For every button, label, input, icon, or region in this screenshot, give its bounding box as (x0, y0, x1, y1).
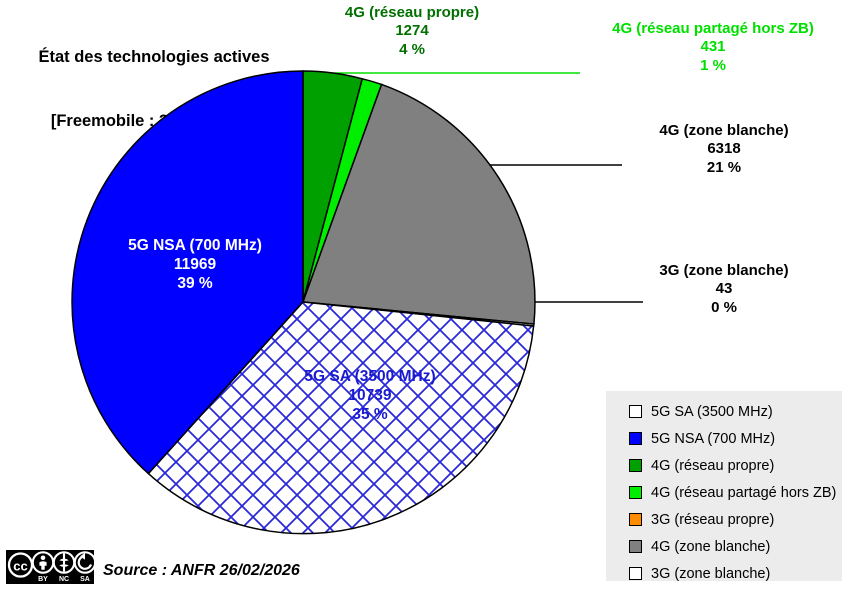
legend-item-label: 4G (zone blanche) (651, 539, 770, 555)
legend-swatch (629, 567, 642, 580)
callout-label: 3G (zone blanche) (600, 262, 848, 280)
callout-value: 1274 (322, 22, 502, 40)
svg-text:SA: SA (80, 576, 90, 583)
callout-label: 4G (zone blanche) (600, 122, 848, 140)
legend-item[interactable]: 3G (réseau propre) (607, 506, 841, 533)
cc-badge-icon: cc BY NC SA (6, 550, 94, 584)
slice-label-value: 10739 (270, 387, 470, 406)
legend-item-label: 4G (réseau propre) (651, 458, 774, 474)
legend-swatch (629, 459, 642, 472)
legend-item[interactable]: 4G (réseau partagé hors ZB) (607, 479, 841, 506)
callout-4g-reseau-propre: 4G (réseau propre) 1274 4 % (322, 4, 502, 59)
callout-value: 431 (578, 38, 848, 56)
source-attribution: Source : ANFR 26/02/2026 (103, 562, 300, 580)
legend-swatch (629, 540, 642, 553)
legend-item[interactable]: 4G (zone blanche) (607, 533, 841, 560)
chart-legend: 5G SA (3500 MHz)5G NSA (700 MHz)4G (rése… (606, 391, 842, 581)
callout-value: 43 (600, 280, 848, 298)
slice-label-percent: 39 % (95, 275, 295, 294)
callout-percent: 0 % (600, 299, 848, 317)
callout-4g-zone-blanche: 4G (zone blanche) 6318 21 % (600, 122, 848, 177)
legend-item[interactable]: 4G (réseau propre) (607, 452, 841, 479)
legend-item-label: 5G SA (3500 MHz) (651, 404, 773, 420)
svg-text:cc: cc (13, 559, 27, 574)
legend-swatch (629, 486, 642, 499)
svg-text:NC: NC (59, 576, 69, 583)
legend-item[interactable]: 5G SA (3500 MHz) (607, 398, 841, 425)
callout-percent: 4 % (322, 41, 502, 59)
legend-swatch (629, 405, 642, 418)
callout-3g-zone-blanche: 3G (zone blanche) 43 0 % (600, 262, 848, 317)
legend-item-label: 4G (réseau partagé hors ZB) (651, 485, 836, 501)
legend-item[interactable]: 3G (zone blanche) (607, 560, 841, 587)
callout-value: 6318 (600, 140, 848, 158)
callout-percent: 1 % (578, 57, 848, 75)
slice-label-name: 5G SA (3500 MHz) (270, 368, 470, 387)
legend-item-label: 5G NSA (700 MHz) (651, 431, 775, 447)
callout-label: 4G (réseau propre) (322, 4, 502, 22)
svg-text:BY: BY (38, 576, 48, 583)
slice-label-5g-sa-3500-mhz: 5G SA (3500 MHz) 10739 35 % (270, 368, 470, 425)
slice-label-5g-nsa-700-mhz: 5G NSA (700 MHz) 11969 39 % (95, 237, 295, 294)
slice-label-percent: 35 % (270, 406, 470, 425)
callout-percent: 21 % (600, 159, 848, 177)
legend-item-label: 3G (réseau propre) (651, 512, 774, 528)
legend-swatch (629, 432, 642, 445)
slice-label-value: 11969 (95, 256, 295, 275)
slice-label-name: 5G NSA (700 MHz) (95, 237, 295, 256)
callout-label: 4G (réseau partagé hors ZB) (578, 20, 848, 38)
legend-swatch (629, 513, 642, 526)
cc-by-nc-sa-badge: cc BY NC SA (6, 550, 94, 584)
legend-item[interactable]: 5G NSA (700 MHz) (607, 425, 841, 452)
callout-4g-reseau-partage-hors-zb: 4G (réseau partagé hors ZB) 431 1 % (578, 20, 848, 75)
legend-item-label: 3G (zone blanche) (651, 566, 770, 582)
